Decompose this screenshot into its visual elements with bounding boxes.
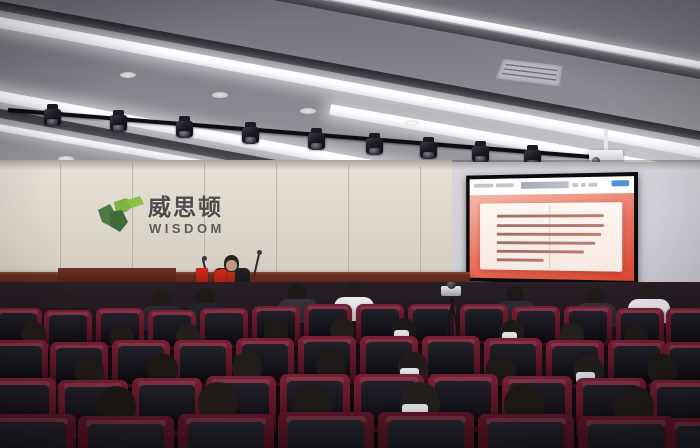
- moving-head-light: [110, 110, 127, 135]
- auditorium-seat: [666, 418, 700, 448]
- auditorium-seat: [578, 416, 674, 448]
- wisdom-mark-icon: [96, 194, 148, 238]
- wall-panel-seam: [420, 166, 421, 276]
- wall-ceiling-shadow: [0, 160, 700, 170]
- audience-seating-area: [0, 282, 700, 448]
- auditorium-seat: [478, 414, 574, 448]
- open-book-graphic: [480, 202, 621, 272]
- moving-head-light: [242, 122, 259, 147]
- projector-mount-pole: [604, 130, 608, 152]
- auditorium-seat: [0, 414, 76, 448]
- moving-head-light: [176, 116, 193, 141]
- moving-head-light: [44, 104, 61, 129]
- ceiling-downlight: [120, 72, 136, 78]
- moving-head-light: [308, 128, 325, 153]
- slide-title-text: [521, 181, 569, 189]
- microphone-head-icon: [257, 250, 262, 255]
- logo-chinese-text: 威思顿: [148, 194, 223, 220]
- ceiling-downlight: [404, 120, 420, 126]
- moving-head-light: [420, 137, 437, 162]
- speaker-face: [226, 260, 237, 271]
- microphone-head-icon: [202, 256, 207, 261]
- ceiling-air-vent: [495, 58, 564, 87]
- auditorium-seat: [178, 414, 274, 448]
- slide-content-area: [470, 193, 634, 281]
- auditorium-seat: [378, 412, 474, 448]
- wall-panel-seam: [348, 165, 349, 281]
- slide-accent-badge: [612, 180, 630, 186]
- ceiling: [0, 0, 700, 168]
- wall-company-logo: 威思顿 WISDOM: [96, 194, 246, 242]
- ceiling-downlight: [212, 92, 228, 98]
- moving-head-light: [366, 133, 383, 158]
- projection-screen: [466, 172, 638, 285]
- conference-hall-photo: 威思顿 WISDOM: [0, 0, 700, 448]
- logo-english-text: WISDOM: [149, 221, 225, 236]
- auditorium-seat: [278, 412, 374, 448]
- presentation-slide: [470, 176, 634, 281]
- ceiling-downlight: [300, 108, 316, 114]
- wall-panel-seam: [276, 164, 277, 286]
- auditorium-seat: [78, 416, 174, 448]
